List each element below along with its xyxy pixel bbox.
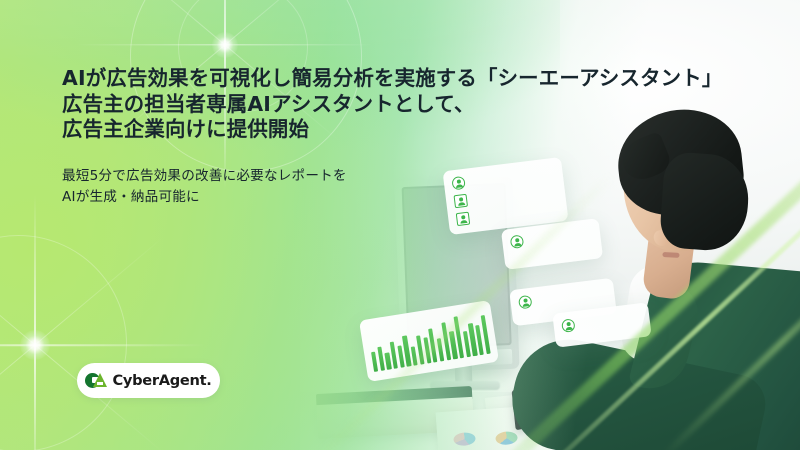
message-lines — [579, 310, 641, 318]
cyberagent-wordmark: CyberAgent. — [112, 372, 211, 389]
subhead-block: 最短5分で広告効果の改善に必要なレポートを AIが生成・納品可能に — [62, 166, 702, 208]
cyberagent-logo: CyberAgent. — [77, 363, 220, 398]
bar — [385, 353, 392, 370]
bar — [437, 338, 445, 361]
headline-line-3: 広告主企業向けに提供開始 — [62, 117, 702, 143]
ca-logo-mark-icon — [85, 373, 107, 389]
headline-line-1: AIが広告効果を可視化し簡易分析を実施する「シーエーアシスタント」 — [62, 66, 702, 92]
subhead-line-2: AIが生成・納品可能に — [62, 187, 702, 208]
chat-message — [518, 286, 607, 310]
chat-message — [561, 310, 642, 333]
message-lines — [536, 286, 605, 295]
bar-chart — [367, 310, 490, 372]
bar — [371, 351, 378, 372]
ca-mark-a — [93, 373, 107, 387]
promo-banner: AIが広告効果を可視化し簡易分析を実施する「シーエーアシスタント」 広告主の担当… — [0, 0, 800, 450]
bar — [411, 346, 418, 366]
copy-block: AIが広告効果を可視化し簡易分析を実施する「シーエーアシスタント」 広告主の担当… — [62, 66, 702, 208]
assistant-avatar-icon — [456, 212, 470, 226]
message-lines — [528, 226, 592, 234]
bar — [377, 347, 385, 371]
chat-message — [510, 226, 593, 249]
user-avatar-icon — [510, 235, 524, 249]
assistant-avatar-icon — [561, 318, 575, 332]
headline-line-2: 広告主の担当者専属AIアシスタントとして、 — [62, 92, 702, 118]
subhead-line-1: 最短5分で広告効果の改善に必要なレポートを — [62, 166, 702, 187]
user-avatar-icon — [518, 295, 532, 309]
